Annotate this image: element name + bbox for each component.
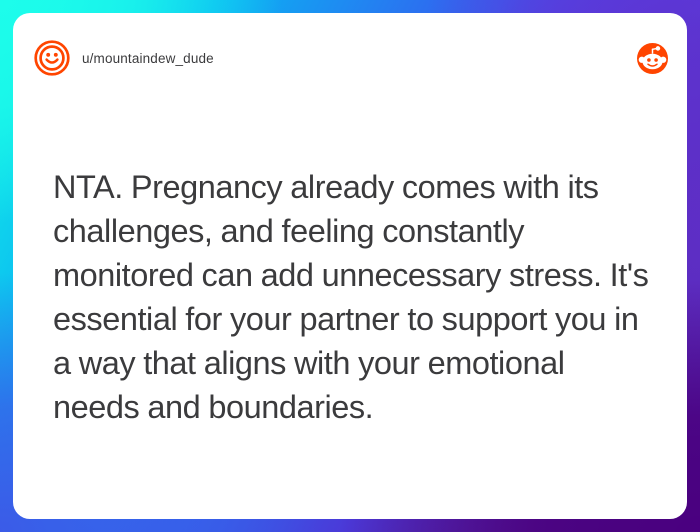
author-group[interactable]: u/mountaindew_dude (34, 40, 214, 76)
gradient-background: u/mountaindew_dude (0, 0, 700, 532)
card-body: NTA. Pregnancy already comes with its ch… (53, 165, 653, 429)
smiley-face-avatar-icon (34, 40, 70, 76)
card-header: u/mountaindew_dude (13, 13, 687, 103)
comment-text: NTA. Pregnancy already comes with its ch… (53, 165, 653, 429)
reddit-snoo-logo-icon[interactable] (637, 43, 668, 74)
reddit-comment-card: u/mountaindew_dude (13, 13, 687, 519)
author-username: u/mountaindew_dude (82, 51, 214, 66)
